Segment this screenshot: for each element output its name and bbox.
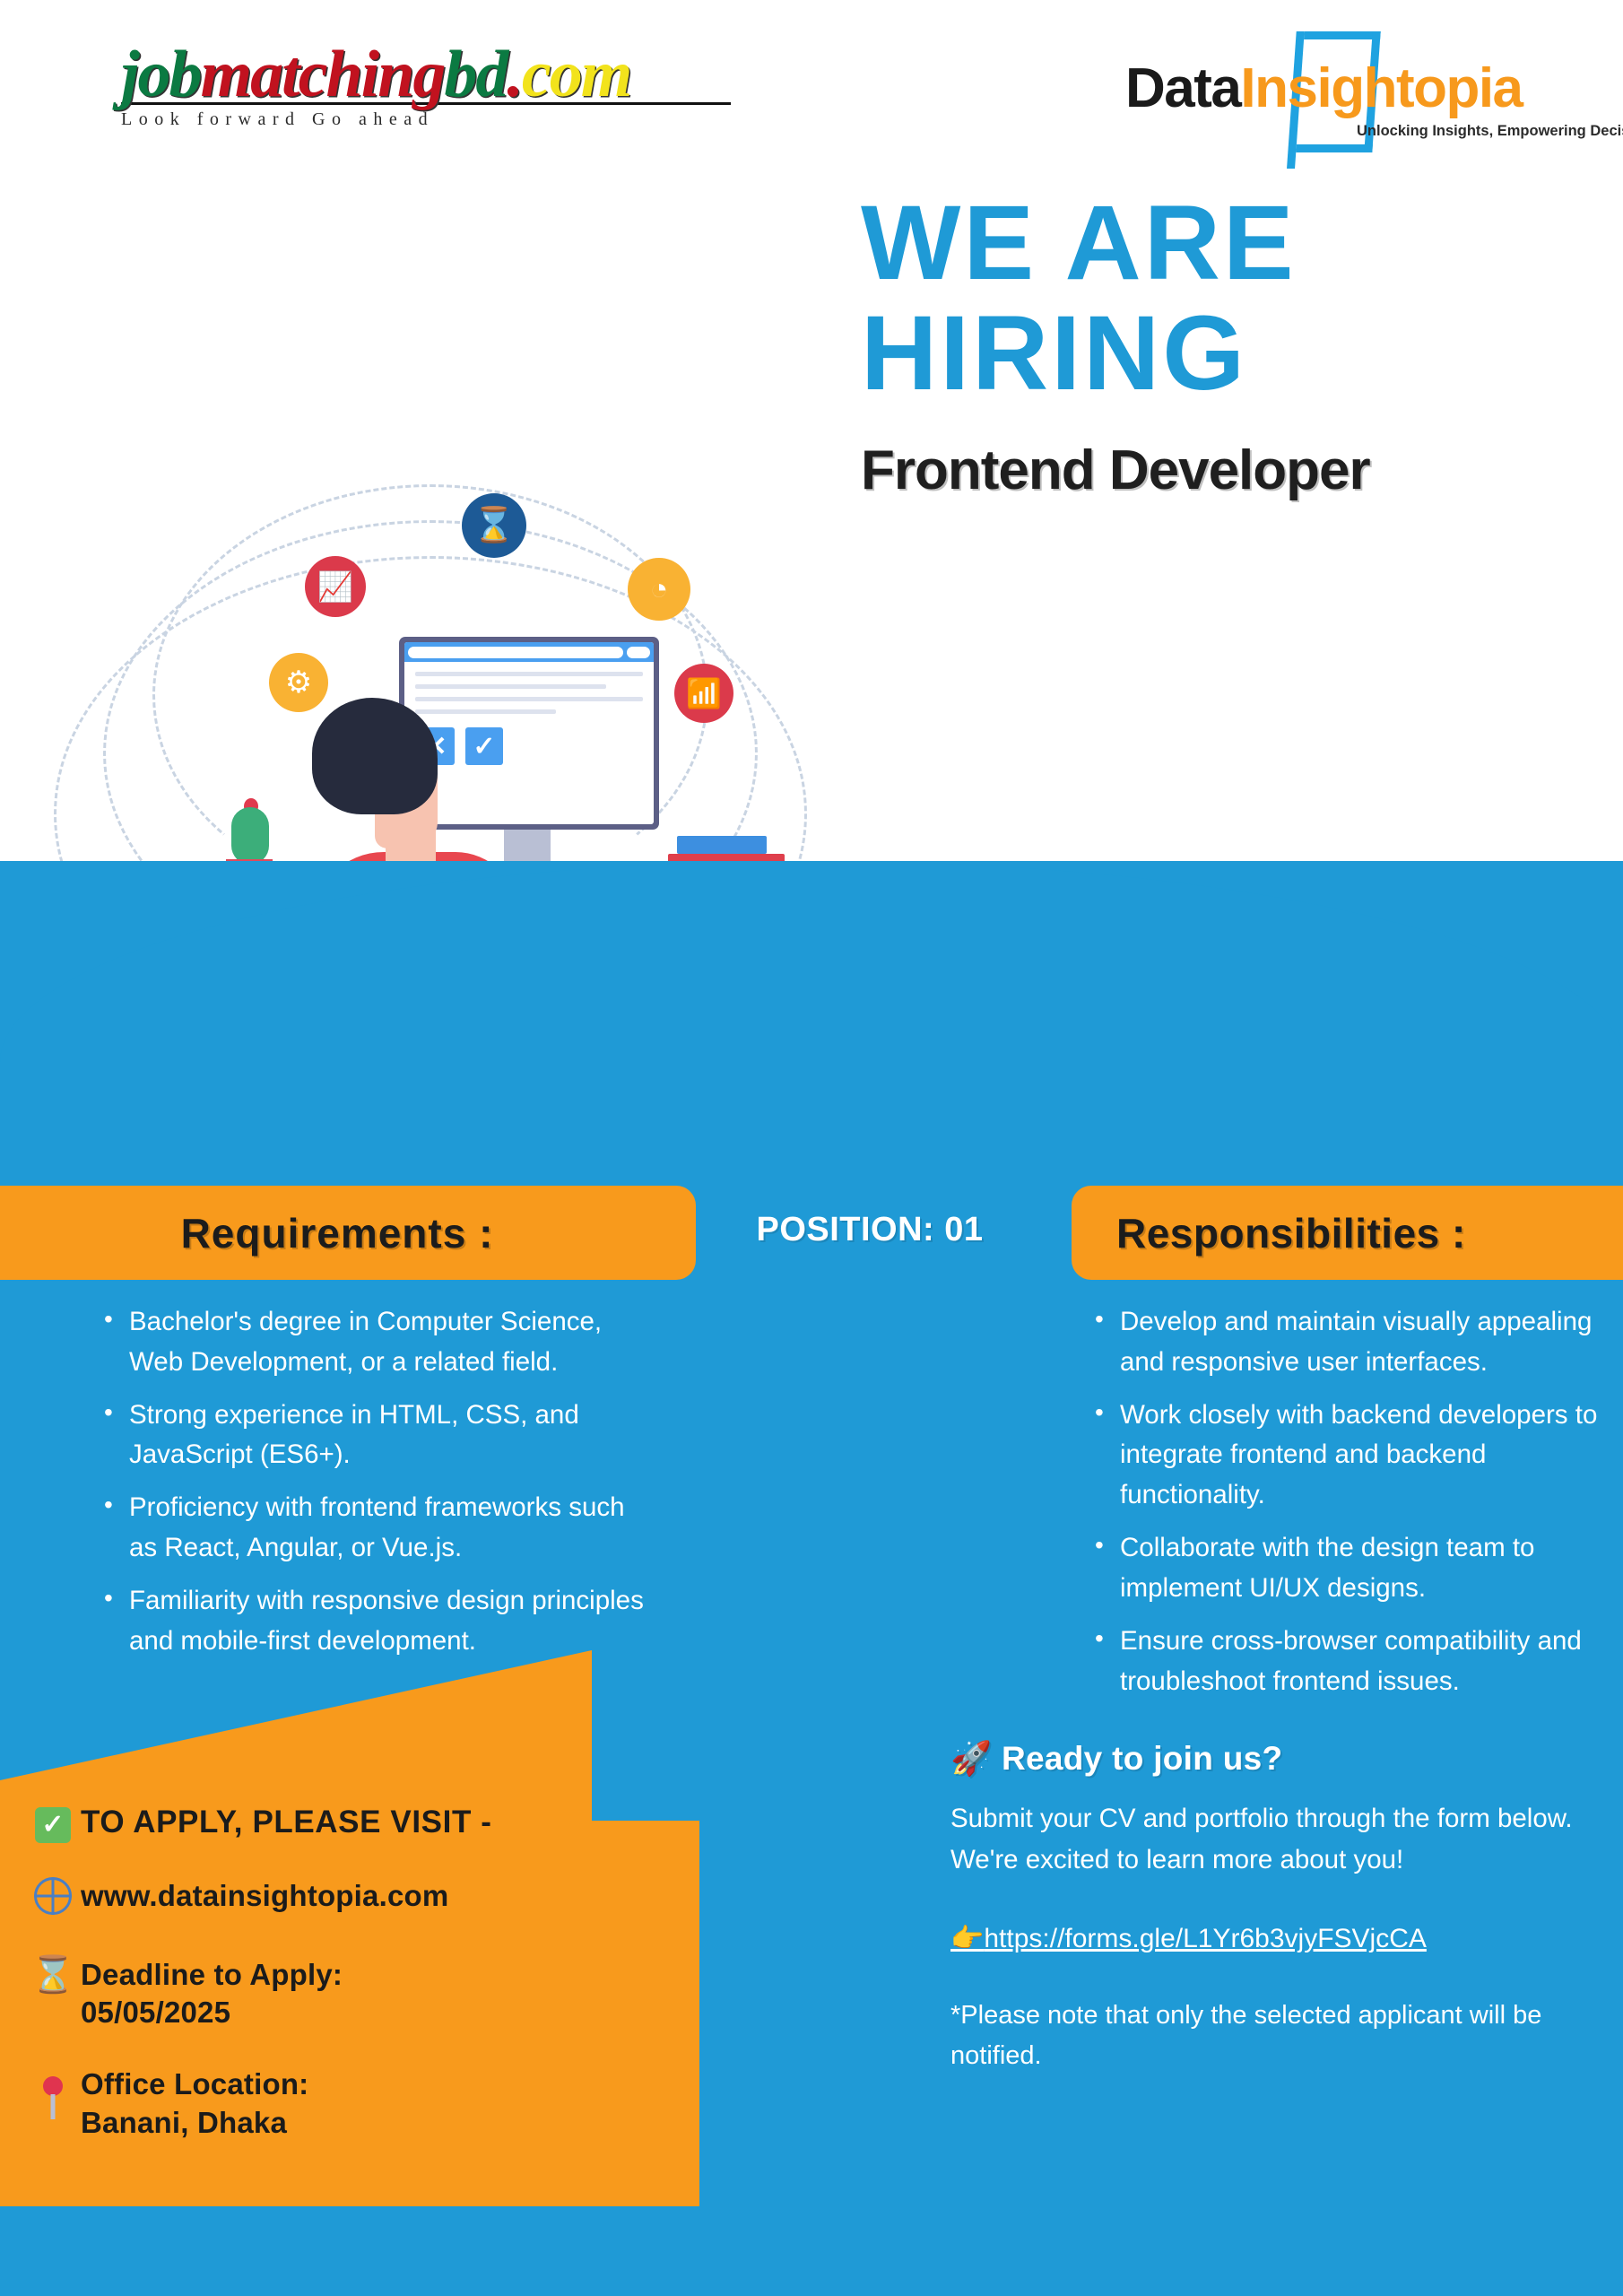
logo-part-insightopia: Insightopia: [1240, 57, 1522, 119]
browser-controls: [627, 647, 650, 658]
list-item: Strong experience in HTML, CSS, and Java…: [99, 1396, 655, 1476]
globe-icon: [25, 1877, 81, 1922]
responsibilities-banner: Responsibilities :: [1072, 1186, 1623, 1280]
cactus-plant: [231, 807, 269, 865]
list-item: Proficiency with frontend frameworks suc…: [99, 1488, 655, 1569]
location-text: Office Location: Banani, Dhaka: [81, 2066, 308, 2141]
responsibilities-list: Develop and maintain visually appealing …: [1089, 1302, 1610, 1714]
text-line: [415, 672, 643, 676]
apply-heading-row: ✓ TO APPLY, PLEASE VISIT -: [25, 1803, 689, 1843]
position-count-label: POSITION: 01: [735, 1211, 1004, 1249]
hero-text-block: WE ARE HIRING Frontend Developer: [861, 188, 1623, 502]
list-item: Ensure cross-browser compatibility and t…: [1089, 1622, 1610, 1702]
location-row: Office Location: Banani, Dhaka: [25, 2066, 689, 2141]
list-item: Familiarity with responsive design princ…: [99, 1581, 655, 1662]
location-value: Banani, Dhaka: [81, 2104, 308, 2142]
screen-text-lines: [404, 662, 654, 714]
rocket-icon: 🚀: [950, 1740, 992, 1777]
monitor-screen: ✕ ✓: [404, 642, 654, 824]
logo-part-matching: matching: [201, 38, 445, 111]
wifi-icon: 📶: [674, 664, 733, 723]
logo-part-data: Data: [1125, 57, 1240, 119]
gear-icon: ⚙: [269, 653, 328, 712]
job-title: Frontend Developer: [861, 439, 1623, 502]
jobmatchingbd-tagline: Look forward Go ahead: [121, 109, 749, 130]
book: [677, 836, 767, 854]
person-hair: [312, 698, 438, 814]
url-pill: [408, 647, 623, 658]
requirements-list: Bachelor's degree in Computer Science, W…: [99, 1302, 655, 1674]
apply-info-rows: ✓ TO APPLY, PLEASE VISIT - www.datainsig…: [25, 1803, 689, 2176]
deadline-value: 05/05/2025: [81, 1994, 343, 2031]
logo-part-dot: .: [507, 38, 522, 111]
bar-chart-icon: 📈: [305, 556, 366, 617]
requirements-title: Requirements :: [181, 1209, 494, 1257]
list-item: Bachelor's degree in Computer Science, W…: [99, 1302, 655, 1383]
screen-choice-row: ✕ ✓: [404, 722, 654, 765]
list-item: Collaborate with the design team to impl…: [1089, 1528, 1610, 1609]
ready-heading: Ready to join us?: [1002, 1740, 1282, 1777]
application-form-link[interactable]: https://forms.gle/L1Yr6b3vjyFSVjcCA: [984, 1924, 1427, 1953]
hero-line-2: HIRING: [861, 299, 1623, 409]
deadline-row: ⌛ Deadline to Apply: 05/05/2025: [25, 1956, 689, 2031]
jobmatchingbd-wordmark: jobmatchingbd.com: [121, 43, 749, 106]
map-pin-icon: [25, 2066, 81, 2103]
check-mark-icon: ✓: [25, 1803, 81, 1843]
browser-address-bar: [404, 642, 654, 662]
datainsightopia-wordmark: DataInsightopia: [1125, 57, 1523, 120]
monitor: ✕ ✓: [399, 637, 659, 830]
logo-part-com: com: [522, 38, 630, 111]
text-line: [415, 697, 643, 701]
requirements-banner: Requirements :: [0, 1186, 696, 1280]
notification-note: *Please note that only the selected appl…: [950, 1996, 1596, 2076]
application-form-link-row[interactable]: 👉https://forms.gle/L1Yr6b3vjyFSVjcCA: [950, 1923, 1596, 1954]
ready-to-join-block: 🚀 Ready to join us? Submit your CV and p…: [950, 1740, 1596, 2076]
ready-body-text: Submit your CV and portfolio through the…: [950, 1798, 1596, 1880]
hourglass-icon: ⌛: [25, 1956, 81, 1994]
deadline-label: Deadline to Apply:: [81, 1956, 343, 1994]
location-label: Office Location:: [81, 2066, 308, 2103]
list-item: Develop and maintain visually appealing …: [1089, 1302, 1610, 1383]
check-icon: ✓: [465, 727, 503, 765]
logo-part-job: job: [121, 38, 201, 111]
responsibilities-title: Responsibilities :: [1116, 1209, 1466, 1257]
hero-line-1: WE ARE: [861, 188, 1623, 299]
pointing-finger-icon: 👉: [950, 1924, 984, 1953]
pie-chart-icon: ◔: [628, 558, 690, 621]
website-url[interactable]: www.datainsightopia.com: [81, 1877, 448, 1915]
list-item: Work closely with backend developers to …: [1089, 1396, 1610, 1516]
deadline-text: Deadline to Apply: 05/05/2025: [81, 1956, 343, 2031]
datainsightopia-tagline: Unlocking Insights, Empowering Decisions: [1357, 123, 1623, 140]
workspace-illustration: ⌛ 📈 ⚙ ◔ 📶 ✕ ✓: [0, 224, 950, 969]
text-line: [415, 709, 556, 714]
jobmatchingbd-logo[interactable]: jobmatchingbd.com Look forward Go ahead: [121, 43, 749, 130]
text-line: [415, 684, 606, 689]
hourglass-icon: ⌛: [462, 493, 526, 558]
website-row[interactable]: www.datainsightopia.com: [25, 1877, 689, 1922]
apply-heading: TO APPLY, PLEASE VISIT -: [81, 1803, 492, 1843]
logo-part-bd: bd: [444, 38, 507, 111]
datainsightopia-logo[interactable]: DataInsightopia Unlocking Insights, Empo…: [1125, 40, 1547, 148]
ready-heading-row: 🚀 Ready to join us?: [950, 1740, 1596, 1779]
page-header: jobmatchingbd.com Look forward Go ahead …: [0, 0, 1623, 170]
